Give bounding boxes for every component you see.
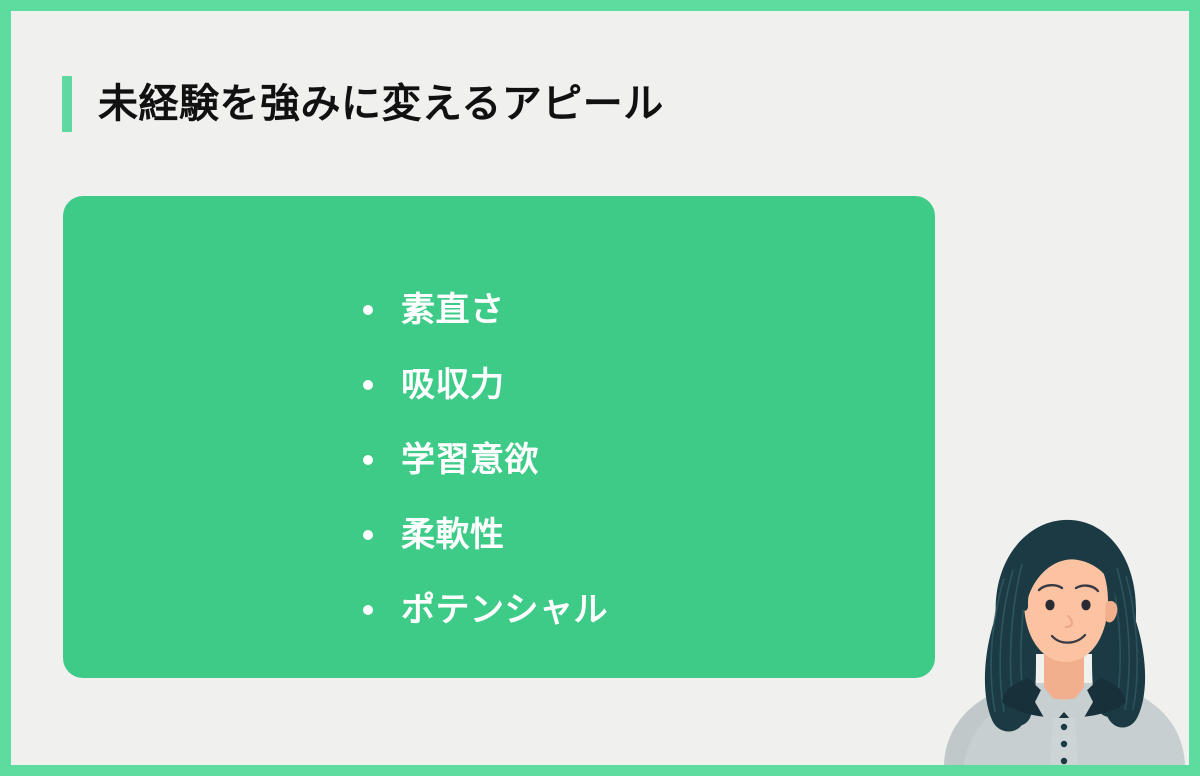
list-item-label: 吸収力: [401, 368, 505, 402]
list-item-label: 柔軟性: [401, 518, 505, 552]
list-item: 柔軟性: [363, 497, 608, 572]
bullet-dot-icon: [363, 455, 373, 465]
list-item-label: 学習意欲: [401, 443, 539, 477]
page-title: 未経験を強みに変えるアピール: [62, 73, 664, 135]
bullet-dot-icon: [363, 380, 373, 390]
bullet-dot-icon: [363, 305, 373, 315]
title-accent-bar: [62, 76, 72, 132]
slide-frame: 未経験を強みに変えるアピール 素直さ 吸収力 学習意欲: [0, 0, 1200, 776]
highlight-card: 素直さ 吸収力 学習意欲 柔軟性 ポテンシャル: [63, 196, 935, 678]
bullet-dot-icon: [363, 605, 373, 615]
list-item: 学習意欲: [363, 422, 608, 497]
list-item-label: 素直さ: [401, 293, 505, 327]
title-text: 未経験を強みに変えるアピール: [98, 84, 664, 124]
strengths-list: 素直さ 吸収力 学習意欲 柔軟性 ポテンシャル: [363, 272, 608, 647]
list-item-label: ポテンシャル: [401, 593, 608, 627]
list-item: 吸収力: [363, 347, 608, 422]
slide-content-area: 未経験を強みに変えるアピール 素直さ 吸収力 学習意欲: [11, 11, 1189, 765]
list-item: 素直さ: [363, 272, 608, 347]
bullet-dot-icon: [363, 530, 373, 540]
woman-portrait-illustration: [940, 506, 1189, 765]
list-item: ポテンシャル: [363, 572, 608, 647]
